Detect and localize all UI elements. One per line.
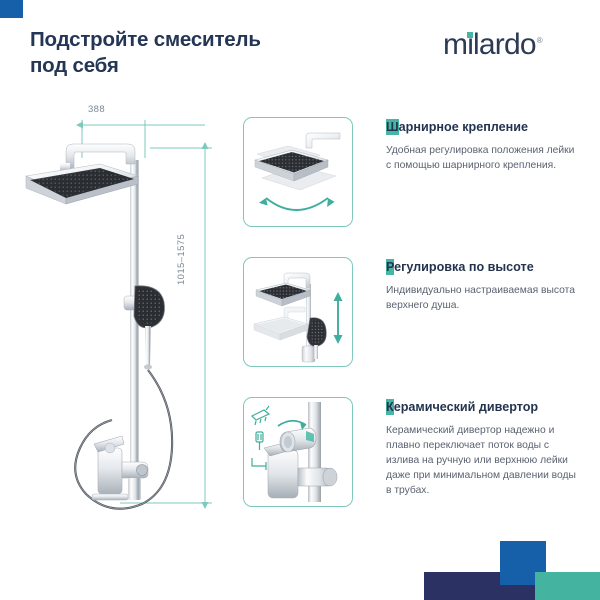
ceramic-diverter-icon [244,398,352,506]
feature-heading: Керамический дивертор [386,400,576,415]
registered-trademark-symbol: ® [537,36,542,45]
feature-body: Удобная регулировка положения лейки с по… [386,144,576,174]
product-shower-column-image [14,118,214,528]
page-title-line-2: под себя [30,53,330,79]
feature-heading-highlight: К [386,399,394,415]
feature-heading-highlight: Ш [386,119,399,135]
corner-accent-square [0,0,23,18]
swivel-mount-icon [244,118,352,226]
feature-heading-rest: арнирное крепление [399,120,528,134]
height-adjustment-icon [244,258,352,366]
illustration-panel-height-adjustment [243,257,353,367]
feature-heading: Регулировка по высоте [386,260,576,275]
feature-heading-highlight: Р [386,259,394,275]
feature-block-height-adjustment: Регулировка по высоте Индивидуально наст… [386,260,576,314]
brand-logo: milardo ® [443,30,542,60]
illustration-panel-swivel-mount [243,117,353,227]
illustration-panel-ceramic-diverter [243,397,353,507]
dimension-width-label: 388 [88,104,105,115]
feature-heading: Шарнирное крепление [386,120,576,135]
page-title: Подстройте смеситель под себя [30,27,330,79]
feature-block-swivel-mount: Шарнирное крепление Удобная регулировка … [386,120,576,174]
feature-block-ceramic-diverter: Керамический дивертор Керамический дивер… [386,400,576,499]
page-title-line-1: Подстройте смеситель [30,27,330,53]
infographic-canvas: Подстройте смеситель под себя milardo ® … [0,0,600,600]
feature-heading-rest: егулировка по высоте [394,260,534,274]
feature-body: Индивидуально настраиваемая высота верхн… [386,284,576,314]
brand-logo-text: milardo [443,28,536,61]
decorative-teal-square [535,572,600,600]
feature-heading-rest: ерамический дивертор [394,400,538,414]
logo-i-dot [467,32,473,38]
feature-body: Керамический дивертор надежно и плавно п… [386,424,576,499]
